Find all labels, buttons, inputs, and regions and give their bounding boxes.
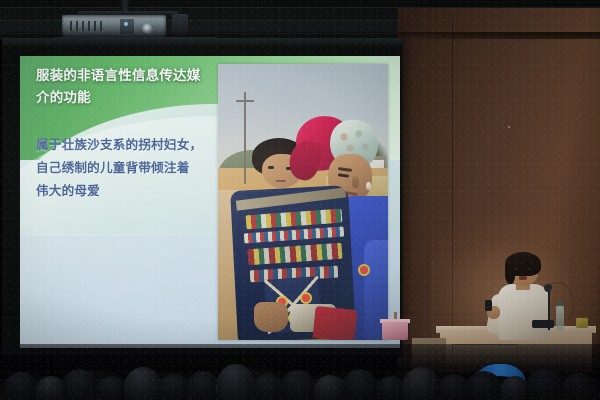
audience-head	[186, 371, 220, 400]
slide-body-line-1: 属于壮族沙支系的拐村妇女，	[36, 134, 232, 157]
pink-box-on-stand	[382, 322, 408, 340]
projector-secondary-mount	[172, 14, 188, 36]
audience-silhouettes: JAN	[0, 344, 600, 400]
audience-head	[4, 372, 38, 400]
slide-title-line-1: 服装的非语言性信息传达媒	[36, 66, 236, 88]
projector-vent	[76, 21, 78, 31]
audience-head	[124, 367, 162, 400]
photo-shading-overlay	[218, 64, 388, 340]
slide-body-line-2: 自己绣制的儿童背带倾注着	[36, 157, 232, 180]
projector-lens-icon	[142, 23, 154, 34]
projector-vent	[94, 21, 96, 31]
audience-head	[562, 373, 596, 400]
audience-head	[62, 369, 98, 400]
presenter-eye	[526, 268, 531, 270]
lecture-hall-scene: 服装的非语言性信息传达媒 介的功能 属于壮族沙支系的拐村妇女， 自己绣制的儿童背…	[0, 0, 600, 400]
wall-marker	[508, 126, 510, 128]
projector-vent	[82, 21, 84, 31]
audience-head	[526, 368, 564, 400]
projector-power-led-icon	[124, 22, 128, 26]
slide-body-text: 属于壮族沙支系的拐村妇女， 自己绣制的儿童背带倾注着 伟大的母爱	[36, 134, 232, 203]
presenter-hair-side	[505, 264, 515, 284]
microphone-head-icon	[544, 284, 552, 292]
slide-title: 服装的非语言性信息传达媒 介的功能	[36, 66, 236, 110]
presenter-mouth	[519, 276, 527, 280]
presenter-torso	[498, 284, 550, 340]
audience-head	[216, 364, 256, 400]
audience-head	[402, 367, 440, 400]
projector-control-panel	[120, 19, 134, 34]
projector-vent	[88, 21, 90, 31]
slide-photo	[218, 64, 388, 340]
projector-vent	[100, 21, 102, 31]
slide-body-line-3: 伟大的母爱	[36, 180, 232, 203]
projector-vent	[70, 21, 72, 31]
presentation-clicker	[485, 300, 492, 311]
audience-head	[96, 376, 126, 400]
audience-head	[342, 369, 378, 400]
dark-desk-object	[532, 320, 554, 328]
wall-trim	[398, 32, 600, 39]
slide-title-line-2: 介的功能	[36, 88, 236, 110]
audience-head	[466, 371, 502, 400]
water-bottle	[556, 306, 564, 330]
slide-surface: 服装的非语言性信息传达媒 介的功能 属于壮族沙支系的拐村妇女， 自己绣制的儿童背…	[20, 56, 400, 348]
desk-object	[576, 318, 588, 328]
screen-frame-top	[2, 38, 402, 48]
audience-head	[280, 370, 316, 400]
presenter-eye	[514, 268, 519, 270]
